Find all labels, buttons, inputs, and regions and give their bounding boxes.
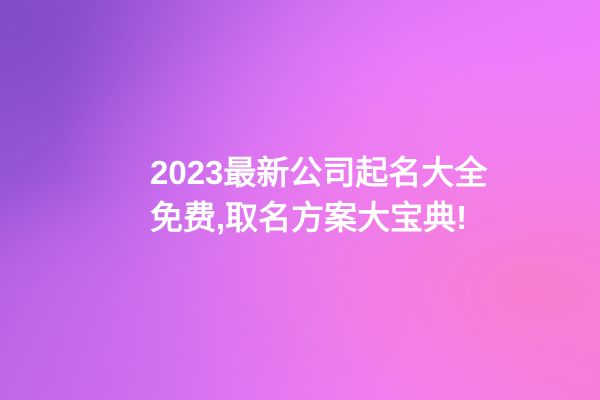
headline-text-block: 2023最新公司起名大全 免费,取名方案大宝典! bbox=[150, 150, 490, 240]
headline-line-2: 免费,取名方案大宝典! bbox=[150, 195, 490, 240]
headline-line-1: 2023最新公司起名大全 bbox=[150, 150, 490, 195]
banner-image: 2023最新公司起名大全 免费,取名方案大宝典! bbox=[0, 0, 600, 400]
